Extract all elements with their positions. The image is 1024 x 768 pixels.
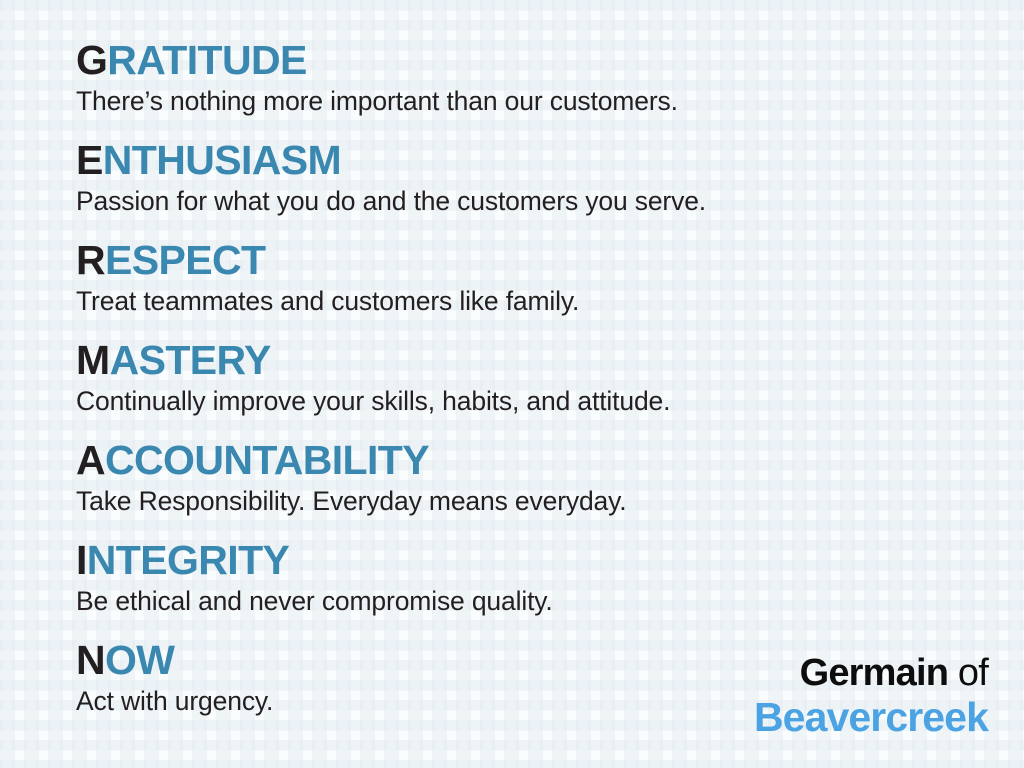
heading-rest-accountability: CCOUNTABILITY	[105, 437, 429, 483]
core-values-list: GRATITUDE There’s nothing more important…	[76, 38, 976, 738]
logo-connector-word: of	[948, 652, 988, 694]
heading-rest-respect: ESPECT	[105, 237, 265, 283]
heading-rest-mastery: ASTERY	[110, 337, 271, 383]
heading-rest-enthusiasm: NTHUSIASM	[103, 137, 341, 183]
value-heading-gratitude: GRATITUDE	[76, 38, 976, 82]
heading-rest-gratitude: RATITUDE	[107, 37, 306, 83]
value-block-mastery: MASTERY Continually improve your skills,…	[76, 338, 976, 438]
lead-letter-r: R	[76, 237, 105, 283]
value-heading-enthusiasm: ENTHUSIASM	[76, 138, 976, 182]
logo-primary-line: Germain of	[754, 652, 988, 694]
lead-letter-g: G	[76, 37, 107, 83]
value-description-enthusiasm: Passion for what you do and the customer…	[76, 184, 976, 218]
heading-rest-now: OW	[105, 637, 174, 683]
value-description-respect: Treat teammates and customers like famil…	[76, 284, 976, 318]
values-poster: GRATITUDE There’s nothing more important…	[0, 0, 1024, 768]
lead-letter-n: N	[76, 637, 105, 683]
value-block-accountability: ACCOUNTABILITY Take Responsibility. Ever…	[76, 438, 976, 538]
value-heading-accountability: ACCOUNTABILITY	[76, 438, 976, 482]
value-description-mastery: Continually improve your skills, habits,…	[76, 384, 976, 418]
value-description-gratitude: There’s nothing more important than our …	[76, 84, 976, 118]
value-block-integrity: INTEGRITY Be ethical and never compromis…	[76, 538, 976, 638]
logo-location-name: Beavercreek	[754, 694, 988, 740]
value-heading-mastery: MASTERY	[76, 338, 976, 382]
dealership-logo: Germain of Beavercreek	[754, 652, 988, 740]
lead-letter-a: A	[76, 437, 105, 483]
lead-letter-i: I	[76, 537, 87, 583]
heading-rest-integrity: NTEGRITY	[87, 537, 289, 583]
value-description-accountability: Take Responsibility. Everyday means ever…	[76, 484, 976, 518]
value-block-enthusiasm: ENTHUSIASM Passion for what you do and t…	[76, 138, 976, 238]
value-block-respect: RESPECT Treat teammates and customers li…	[76, 238, 976, 338]
value-block-gratitude: GRATITUDE There’s nothing more important…	[76, 38, 976, 138]
lead-letter-m: M	[76, 337, 110, 383]
lead-letter-e: E	[76, 137, 103, 183]
value-heading-respect: RESPECT	[76, 238, 976, 282]
value-heading-integrity: INTEGRITY	[76, 538, 976, 582]
value-description-integrity: Be ethical and never compromise quality.	[76, 584, 976, 618]
logo-brand-name: Germain	[800, 652, 949, 694]
